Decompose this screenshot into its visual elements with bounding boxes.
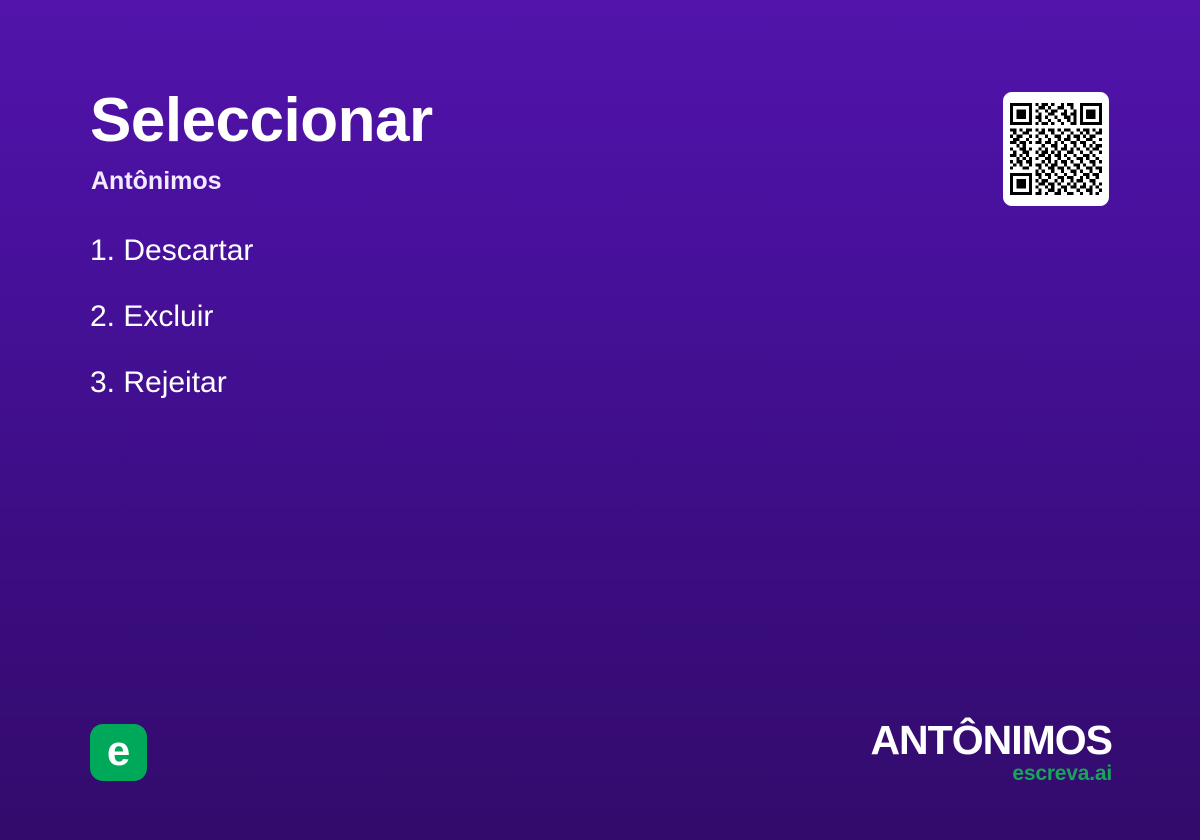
brand-logo: ANTÔNIMOS escreva.ai xyxy=(870,720,1112,784)
badge-letter: e xyxy=(107,730,130,772)
qr-code-panel[interactable] xyxy=(1003,92,1109,206)
escreva-badge-icon[interactable]: e xyxy=(90,724,147,781)
qr-code-icon xyxy=(1010,103,1102,195)
page-subtitle: Antônimos xyxy=(91,168,222,196)
page-title: Seleccionar xyxy=(90,88,433,153)
antonym-list: 1. Descartar 2. Excluir 3. Rejeitar xyxy=(90,236,253,434)
word-card: Seleccionar Antônimos 1. Descartar 2. Ex… xyxy=(0,0,1200,840)
brand-name: ANTÔNIMOS xyxy=(870,720,1112,761)
brand-sub: escreva.ai xyxy=(870,763,1112,784)
list-item: 3. Rejeitar xyxy=(90,368,253,398)
list-item: 1. Descartar xyxy=(90,236,253,266)
list-item: 2. Excluir xyxy=(90,302,253,332)
